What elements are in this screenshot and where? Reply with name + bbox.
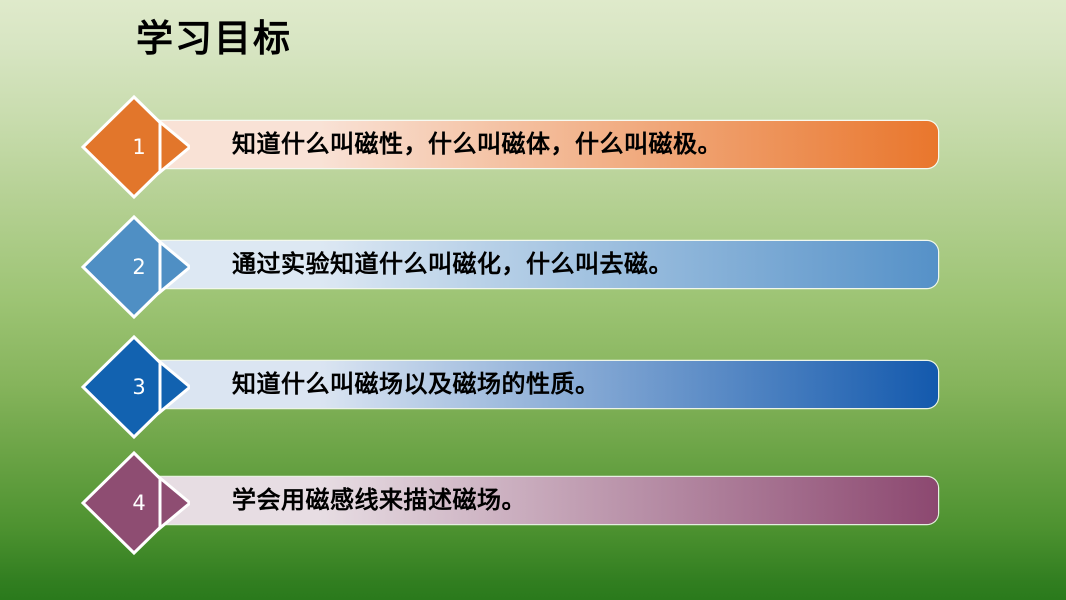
goal-marker-diamond-1: 1 (78, 92, 190, 202)
goal-item-2[interactable]: 通过实验知道什么叫磁化，什么叫去磁。 2 (0, 212, 1066, 322)
page-title: 学习目标 (136, 18, 292, 61)
goal-text-2: 通过实验知道什么叫磁化，什么叫去磁。 (232, 241, 673, 288)
goal-marker-diamond-2: 2 (78, 212, 190, 322)
goal-marker-diamond-4: 4 (78, 448, 190, 558)
goal-item-3[interactable]: 知道什么叫磁场以及磁场的性质。 3 (0, 332, 1066, 442)
goal-item-1[interactable]: 知道什么叫磁性，什么叫磁体，什么叫磁极。 1 (0, 92, 1066, 202)
goal-marker-diamond-3: 3 (78, 332, 190, 442)
goal-item-4[interactable]: 学会用磁感线来描述磁场。 4 (0, 448, 1066, 558)
goal-text-1: 知道什么叫磁性，什么叫磁体，什么叫磁极。 (232, 121, 722, 168)
goal-text-4: 学会用磁感线来描述磁场。 (232, 477, 526, 524)
goal-text-3: 知道什么叫磁场以及磁场的性质。 (232, 361, 600, 408)
slide-canvas: 学习目标 知道什么叫磁性，什么叫磁体，什么叫磁极。 1 通过实验知道什么叫磁化，… (0, 0, 1066, 600)
